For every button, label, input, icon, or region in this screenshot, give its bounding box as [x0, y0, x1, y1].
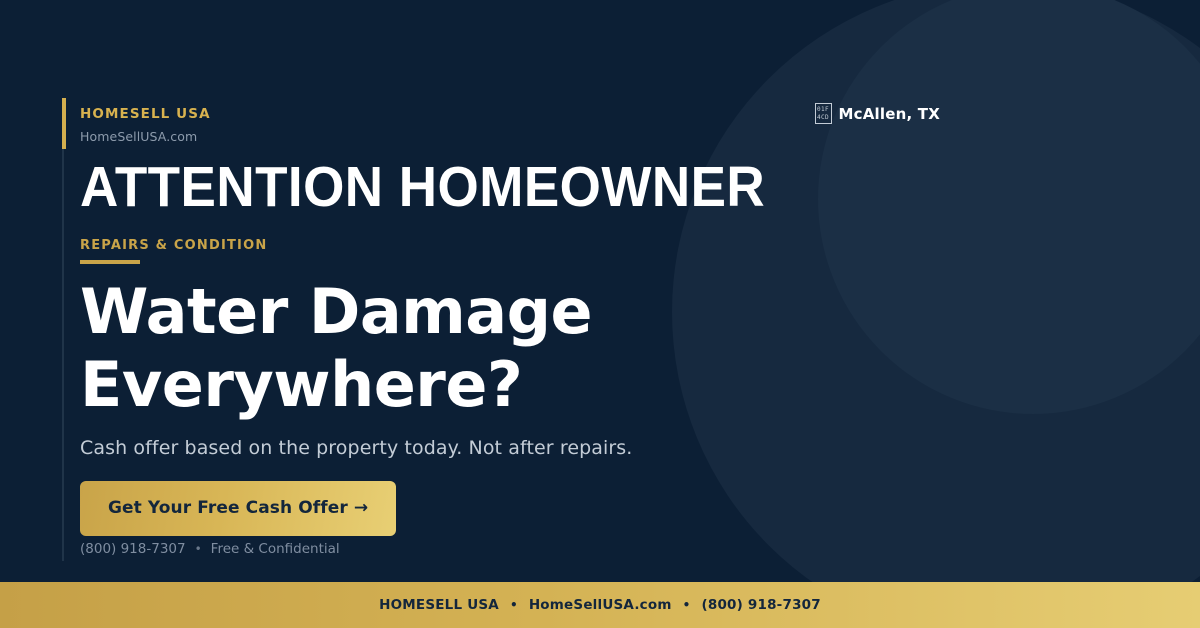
footer-website[interactable]: HomeSellUSA.com [529, 597, 672, 613]
brand-website: HomeSellUSA.com [80, 129, 211, 144]
location-label: McAllen, TX [839, 105, 940, 123]
footer-bar: HOMESELL USA • HomeSellUSA.com • (800) 9… [0, 582, 1200, 628]
eyebrow-label: REPAIRS & CONDITION [80, 238, 267, 253]
footer-brand: HOMESELL USA [379, 597, 499, 613]
ad-creative: HOMESELL USA HomeSellUSA.com 01F 4CD McA… [0, 0, 1200, 628]
location-badge: 01F 4CD McAllen, TX [815, 103, 940, 124]
headline-line-2: Everywhere? [80, 349, 780, 422]
map-pin-icon-codepoint-lower: 4CD [817, 114, 829, 122]
cta-button[interactable]: Get Your Free Cash Offer → [80, 481, 396, 536]
hero-subtitle: Cash offer based on the property today. … [80, 437, 632, 459]
trust-line: (800) 918-7307 • Free & Confidential [80, 541, 340, 557]
accent-rail-gold [62, 98, 66, 149]
attention-headline: ATTENTION HOMEOWNER [80, 158, 765, 218]
trust-note: Free & Confidential [211, 541, 340, 557]
footer-phone[interactable]: (800) 918-7307 [701, 597, 820, 613]
map-pin-icon-codepoint-upper: 01F [817, 106, 829, 114]
brand-name: HOMESELL USA [80, 106, 211, 123]
headline-line-1: Water Damage [80, 276, 780, 349]
footer-separator-icon-2: • [683, 598, 691, 612]
footer-content: HOMESELL USA • HomeSellUSA.com • (800) 9… [379, 597, 821, 613]
accent-rail-dim [62, 149, 64, 561]
footer-separator-icon-1: • [510, 598, 518, 612]
trust-phone[interactable]: (800) 918-7307 [80, 541, 186, 557]
eyebrow-underline [80, 260, 140, 264]
trust-separator-icon: • [195, 542, 202, 556]
content-column: HOMESELL USA HomeSellUSA.com 01F 4CD McA… [80, 0, 1000, 628]
map-pin-icon: 01F 4CD [815, 103, 832, 124]
brand-block: HOMESELL USA HomeSellUSA.com [80, 106, 211, 144]
page-title: Water Damage Everywhere? [80, 276, 780, 421]
